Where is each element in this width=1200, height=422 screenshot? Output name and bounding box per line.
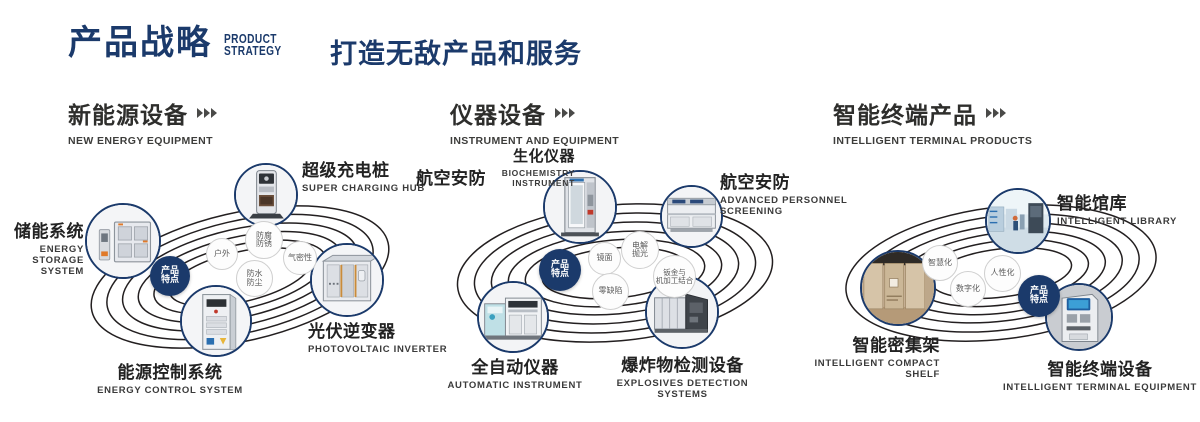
automatic-instrument-icon bbox=[479, 283, 547, 351]
label-automatic-instrument: 全自动仪器 AUTOMATIC INSTRUMENT bbox=[425, 353, 605, 391]
tagline: 打造无敌产品和服务 bbox=[330, 32, 582, 71]
feature-bubble-zero-defect[interactable]: 零缺陷 bbox=[592, 273, 629, 310]
section-title-new-energy: 新能源设备 NEW ENERGY EQUIPMENT bbox=[68, 96, 217, 147]
feature-bubble-airtight[interactable]: 气密性 bbox=[283, 241, 317, 275]
feature-bubble-digital[interactable]: 数字化 bbox=[950, 271, 986, 307]
label-intelligent-terminal-equipment: 智能终端设备 INTELLIGENT TERMINAL EQUIPMENT bbox=[1000, 355, 1200, 393]
core-bubble-product-features[interactable]: 产品 特点 bbox=[539, 249, 581, 291]
chevron-right-icon bbox=[986, 108, 1006, 118]
battery-cabinet-icon bbox=[87, 205, 159, 277]
page-title-en: PRODUCT STRATEGY bbox=[224, 33, 282, 60]
node-energy-storage-system[interactable] bbox=[85, 203, 161, 279]
core-bubble-product-features[interactable]: 产品 特点 bbox=[150, 256, 190, 296]
label-energy-storage-system: 储能系统 ENERGY STORAGE SYSTEM bbox=[0, 217, 84, 277]
node-super-charging-hub[interactable] bbox=[234, 163, 298, 227]
feature-bubble-outdoor[interactable]: 户外 bbox=[206, 238, 238, 270]
feature-bubble-smart[interactable]: 智慧化 bbox=[922, 245, 958, 281]
label-intelligent-library: 智能馆库 INTELLIGENT LIBRARY bbox=[1057, 189, 1200, 227]
label-explosives-detection-systems: 爆炸物检测设备 EXPLOSIVES DETECTION SYSTEMS bbox=[590, 351, 775, 400]
section-title-cn: 智能终端产品 bbox=[833, 96, 977, 130]
feature-bubble-mirror[interactable]: 镜面 bbox=[588, 242, 621, 275]
chevron-right-icon bbox=[197, 108, 217, 118]
label-energy-control-system: 能源控制系统 ENERGY CONTROL SYSTEM bbox=[80, 358, 260, 396]
cluster-new-energy: 储能系统 ENERGY STORAGE SYSTEM 超级充电桩 SUPER C… bbox=[40, 155, 440, 390]
node-photovoltaic-inverter[interactable] bbox=[310, 243, 384, 317]
control-cabinet-icon bbox=[182, 287, 250, 355]
label-intelligent-compact-shelf: 智能密集架 INTELLIGENT COMPACT SHELF bbox=[800, 331, 940, 380]
node-intelligent-library[interactable] bbox=[985, 188, 1051, 254]
cluster-intelligent: 智能馆库 INTELLIGENT LIBRARY 智能密集架 INTELLIGE… bbox=[805, 155, 1200, 390]
page-title: 产品战略 bbox=[68, 26, 212, 60]
library-room-icon bbox=[987, 190, 1049, 252]
section-title-cn: 仪器设备 bbox=[450, 96, 546, 130]
feature-bubble-waterproof[interactable]: 防水 防尘 bbox=[236, 260, 273, 297]
feature-bubble-electropolishing[interactable]: 电解 抛光 bbox=[621, 231, 659, 269]
section-title-en: INTELLIGENT TERMINAL PRODUCTS bbox=[833, 135, 1032, 147]
section-title-en: NEW ENERGY EQUIPMENT bbox=[68, 135, 217, 147]
section-title-instrument: 仪器设备 INSTRUMENT AND EQUIPMENT bbox=[450, 96, 619, 147]
node-automatic-instrument[interactable] bbox=[477, 281, 549, 353]
label-biochemistry-instrument: 生化仪器 BIOCHEMISTRY INSTRUMENT bbox=[453, 145, 575, 188]
poster-canvas: 产品战略 PRODUCT STRATEGY 打造无敌产品和服务 新能源设备 NE… bbox=[0, 0, 1200, 422]
screening-machine-icon bbox=[662, 187, 721, 246]
poster-header: 产品战略 PRODUCT STRATEGY bbox=[68, 26, 298, 60]
feature-bubble-sheetmetal-machining[interactable]: 钣金与 机加工结合 bbox=[653, 255, 696, 298]
charging-pile-icon bbox=[236, 165, 296, 225]
feature-bubble-anticorrosion[interactable]: 防腐 防锈 bbox=[245, 221, 283, 259]
cluster-instrument: 航空安防 生化仪器 BIOCHEMISTRY INSTRUMENT 航空安防 bbox=[415, 155, 815, 390]
section-title-cn: 新能源设备 bbox=[68, 96, 188, 130]
node-advanced-personnel-screening[interactable] bbox=[660, 185, 723, 248]
inverter-cabinet-icon bbox=[312, 245, 382, 315]
section-title-intelligent: 智能终端产品 INTELLIGENT TERMINAL PRODUCTS bbox=[833, 96, 1032, 147]
feature-bubble-humanized[interactable]: 人性化 bbox=[984, 255, 1021, 292]
node-energy-control-system[interactable] bbox=[180, 285, 252, 357]
core-bubble-product-features[interactable]: 产品 特点 bbox=[1018, 275, 1060, 317]
chevron-right-icon bbox=[555, 108, 575, 118]
